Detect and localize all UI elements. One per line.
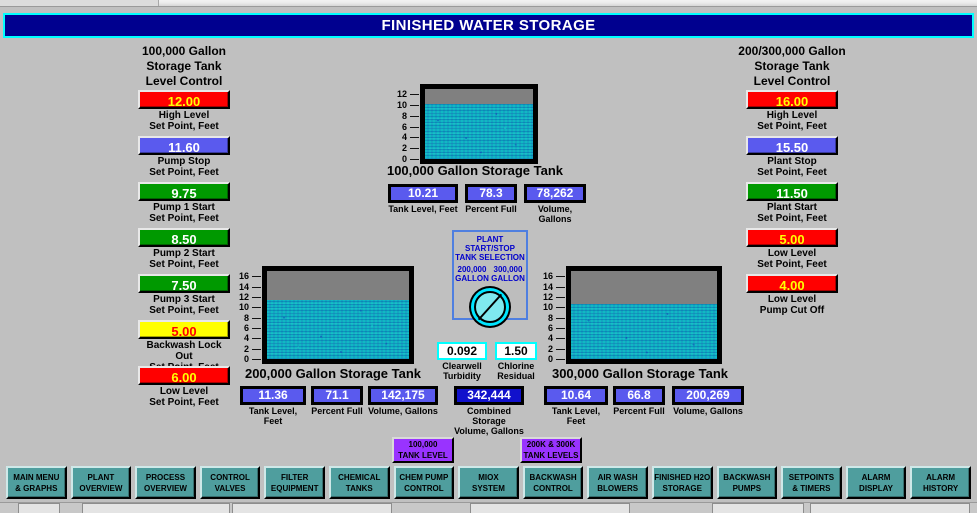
tank-title-200k: 200,000 Gallon Storage Tank (228, 366, 438, 381)
readout-caption: Tank Level, Feet (240, 406, 306, 426)
nav-button-label-line1: PLANT (88, 472, 115, 483)
readout-percent-full-200k: 71.1 Percent Full (311, 386, 363, 416)
setpoint-value[interactable]: 8.50 (138, 228, 230, 247)
readout-value: 71.1 (311, 386, 363, 405)
readout-value: 78,262 (524, 184, 586, 203)
tank-graphic-300k (566, 266, 722, 364)
axis-tick: 12— (397, 89, 418, 99)
setpoint-plant-stop-200300k[interactable]: 15.50 Plant Stop Set Point, Feet (746, 136, 838, 178)
nav-button-label-line1: SETPOINTS (789, 472, 834, 483)
nav-button-label-line1: CHEMICAL (338, 472, 380, 483)
nav-button-chem-pump[interactable]: CHEM PUMPCONTROL (394, 466, 455, 499)
readout-volume-200k: 142,175 Volume, Gallons (368, 386, 438, 416)
setpoint-caption: Low Level Set Point, Feet (138, 386, 230, 408)
hmi-screen: FINISHED WATER STORAGE 100,000 Gallon St… (0, 0, 977, 513)
bottom-navigation-bar: MAIN MENU& GRAPHSPLANTOVERVIEWPROCESSOVE… (6, 466, 971, 499)
readout-value: 342,444 (454, 386, 524, 405)
setpoint-value[interactable]: 7.50 (138, 274, 230, 293)
setpoint-caption: Low Level Set Point, Feet (746, 248, 838, 270)
readout-caption: Tank Level, Feet (388, 204, 458, 214)
setpoint-pump-1-start-100k[interactable]: 9.75 Pump 1 Start Set Point, Feet (138, 182, 230, 224)
nav-button-filter[interactable]: FILTEREQUIPMENT (264, 466, 325, 499)
nav-button-label-line1: PROCESS (146, 472, 185, 483)
setpoint-low-level-pump-cutoff-200300k[interactable]: 4.00 Low Level Pump Cut Off (746, 274, 838, 316)
setpoint-caption: Pump 1 Start Set Point, Feet (138, 202, 230, 224)
taskbar-strip (0, 502, 977, 513)
axis-tick: 6— (548, 323, 564, 333)
axis-tick: 12— (543, 292, 564, 302)
selector-option-200k[interactable]: 200,000 GALLON (455, 265, 489, 283)
axis-tick: 0— (548, 354, 564, 364)
nav-button-label-line1: CONTROL (210, 472, 250, 483)
readout-value: 10.64 (544, 386, 608, 405)
tank-axis-100k: 12—10—8—6—4—2—0— (392, 89, 418, 159)
tank-graphic-200k (262, 266, 414, 364)
readout-caption: Volume, Gallons (368, 406, 438, 416)
page-title: FINISHED WATER STORAGE (3, 13, 974, 38)
taskbar-item[interactable] (82, 503, 230, 513)
setpoint-value[interactable]: 6.00 (138, 366, 230, 385)
nav-button-label-line1: ALARM (926, 472, 955, 483)
setpoint-caption: High Level Set Point, Feet (746, 110, 838, 132)
axis-tick: 16— (543, 271, 564, 281)
readout-value: 142,175 (368, 386, 438, 405)
axis-tick: 6— (402, 122, 418, 132)
nav-button-control[interactable]: CONTROLVALVES (200, 466, 261, 499)
setpoint-low-level-200300k[interactable]: 5.00 Low Level Set Point, Feet (746, 228, 838, 270)
setpoint-value[interactable]: 4.00 (746, 274, 838, 293)
right-heading-line1: 200/300,000 Gallon (692, 44, 892, 59)
readout-chlorine-residual: 1.50 Chlorine Residual (495, 342, 537, 381)
nav-button-label-line1: ALARM (862, 472, 891, 483)
setpoint-pump-3-start-100k[interactable]: 7.50 Pump 3 Start Set Point, Feet (138, 274, 230, 316)
nav-button-label-line1: BACKWASH (529, 472, 576, 483)
nav-button-label-line1: FINISHED H2O (654, 472, 710, 483)
readout-value: 11.36 (240, 386, 306, 405)
setpoint-high-level-200300k[interactable]: 16.00 High Level Set Point, Feet (746, 90, 838, 132)
nav-button-label-line2: PUMPS (733, 483, 761, 494)
readout-percent-full-100k: 78.3 Percent Full (465, 184, 517, 214)
nav-button-label-line2: CONTROL (533, 483, 573, 494)
readout-caption: Tank Level, Feet (544, 406, 608, 426)
tank-title-300k: 300,000 Gallon Storage Tank (534, 366, 746, 381)
water-level-fill-300k (571, 304, 717, 359)
water-level-fill-100k (425, 104, 533, 159)
toolbar-fragment (92, 0, 159, 6)
window-toolbar-strip (0, 0, 977, 7)
nav-button-label-line1: FILTER (281, 472, 308, 483)
setpoint-value[interactable]: 5.00 (746, 228, 838, 247)
nav-button-label-line2: EQUIPMENT (271, 483, 319, 494)
trend-button-200k-300k-tank-levels[interactable]: 200K & 300K TANK LEVELS (520, 437, 582, 463)
water-level-fill-200k (267, 300, 409, 359)
nav-button-label-line2: OVERVIEW (144, 483, 187, 494)
nav-button-main-menu[interactable]: MAIN MENU& GRAPHS (6, 466, 67, 499)
toolbar-fragment (0, 0, 59, 6)
trend-button-100k-tank-level[interactable]: 100,000 TANK LEVEL (392, 437, 454, 463)
readout-caption: Volume, Gallons (524, 204, 586, 224)
readout-caption: Clearwell Turbidity (437, 361, 487, 381)
axis-tick: 4— (244, 333, 260, 343)
tank-title-100k: 100,000 Gallon Storage Tank (370, 163, 580, 178)
nav-button-process[interactable]: PROCESSOVERVIEW (135, 466, 196, 499)
right-heading-line2: Storage Tank (692, 59, 892, 74)
readout-tank-level-100k: 10.21 Tank Level, Feet (388, 184, 458, 214)
readout-combined-storage-volume: 342,444 Combined Storage Volume, Gallons (454, 386, 524, 436)
selector-title-line1: PLANT START/STOP (454, 235, 526, 253)
axis-tick: 8— (244, 313, 260, 323)
readout-value: 0.092 (437, 342, 487, 360)
nav-button-chemical[interactable]: CHEMICALTANKS (329, 466, 390, 499)
rotary-selector-switch-icon[interactable] (469, 286, 511, 328)
tank-axis-200k: 16—14—12—10—8—6—4—2—0— (234, 271, 260, 359)
setpoint-value[interactable]: 16.00 (746, 90, 838, 109)
nav-button-setpoints[interactable]: SETPOINTS& TIMERS (781, 466, 842, 499)
readout-volume-300k: 200,269 Volume, Gallons (672, 386, 744, 416)
readout-caption: Chlorine Residual (495, 361, 537, 381)
nav-button-backwash[interactable]: BACKWASHCONTROL (523, 466, 584, 499)
readout-volume-100k: 78,262 Volume, Gallons (524, 184, 586, 224)
nav-button-label-line2: OVERVIEW (79, 483, 122, 494)
nav-button-label-line1: MIOX (478, 472, 498, 483)
axis-tick: 10— (239, 302, 260, 312)
setpoint-caption: Plant Start Set Point, Feet (746, 202, 838, 224)
setpoint-value[interactable]: 11.50 (746, 182, 838, 201)
plant-start-stop-tank-selection-panel[interactable]: PLANT START/STOP TANK SELECTION 200,000 … (452, 230, 528, 320)
left-heading-line2: Storage Tank (84, 59, 284, 74)
readout-tank-level-300k: 10.64 Tank Level, Feet (544, 386, 608, 426)
setpoint-caption: Pump 3 Start Set Point, Feet (138, 294, 230, 316)
tank-graphic-100k (420, 84, 538, 164)
nav-button-label-line2: VALVES (215, 483, 246, 494)
setpoint-value[interactable]: 11.60 (138, 136, 230, 155)
nav-button-air-wash[interactable]: AIR WASHBLOWERS (587, 466, 648, 499)
toolbar-fragment (58, 0, 93, 6)
nav-button-label-line2: HISTORY (923, 483, 958, 494)
taskbar-item[interactable] (712, 503, 804, 513)
setpoint-caption: Pump Stop Set Point, Feet (138, 156, 230, 178)
axis-tick: 4— (402, 132, 418, 142)
axis-tick: 4— (548, 333, 564, 343)
nav-button-label-line2: DISPLAY (859, 483, 893, 494)
taskbar-item[interactable] (232, 503, 392, 513)
setpoint-caption: Pump 2 Start Set Point, Feet (138, 248, 230, 270)
nav-button-label-line1: BACKWASH (723, 472, 770, 483)
nav-button-alarm[interactable]: ALARMDISPLAY (846, 466, 907, 499)
axis-tick: 8— (548, 313, 564, 323)
axis-tick: 16— (239, 271, 260, 281)
axis-tick: 8— (402, 111, 418, 121)
axis-tick: 14— (239, 282, 260, 292)
readout-value: 200,269 (672, 386, 744, 405)
right-column-heading: 200/300,000 Gallon Storage Tank Level Co… (692, 44, 892, 89)
selector-title-line2: TANK SELECTION (454, 253, 526, 262)
readout-caption: Combined Storage Volume, Gallons (454, 406, 524, 436)
nav-button-miox[interactable]: MIOXSYSTEM (458, 466, 519, 499)
setpoint-value[interactable]: 12.00 (138, 90, 230, 109)
setpoint-value[interactable]: 15.50 (746, 136, 838, 155)
axis-tick: 2— (402, 143, 418, 153)
axis-tick: 10— (543, 302, 564, 312)
readout-value: 10.21 (388, 184, 458, 203)
setpoint-pump-2-start-100k[interactable]: 8.50 Pump 2 Start Set Point, Feet (138, 228, 230, 270)
setpoint-caption: Low Level Pump Cut Off (746, 294, 838, 316)
readout-percent-full-300k: 66.8 Percent Full (613, 386, 665, 416)
nav-button-label-line2: & TIMERS (792, 483, 830, 494)
readout-value: 66.8 (613, 386, 665, 405)
setpoint-plant-start-200300k[interactable]: 11.50 Plant Start Set Point, Feet (746, 182, 838, 224)
nav-button-label-line1: MAIN MENU (13, 472, 59, 483)
setpoint-value[interactable]: 5.00 (138, 320, 230, 339)
setpoint-caption: Plant Stop Set Point, Feet (746, 156, 838, 178)
taskbar-item[interactable] (810, 503, 970, 513)
readout-caption: Percent Full (613, 406, 665, 416)
selector-option-300k[interactable]: 300,000 GALLON (491, 265, 525, 283)
axis-tick: 14— (543, 282, 564, 292)
axis-tick: 2— (548, 344, 564, 354)
right-heading-line3: Level Control (692, 74, 892, 89)
taskbar-item[interactable] (470, 503, 630, 513)
setpoint-low-level-100k[interactable]: 6.00 Low Level Set Point, Feet (138, 366, 230, 408)
nav-button-backwash[interactable]: BACKWASHPUMPS (717, 466, 778, 499)
readout-caption: Percent Full (465, 204, 517, 214)
nav-button-label-line2: CONTROL (404, 483, 444, 494)
left-column-heading: 100,000 Gallon Storage Tank Level Contro… (84, 44, 284, 89)
readout-tank-level-200k: 11.36 Tank Level, Feet (240, 386, 306, 426)
readout-value: 1.50 (495, 342, 537, 360)
axis-tick: 12— (239, 292, 260, 302)
setpoint-pump-stop-100k[interactable]: 11.60 Pump Stop Set Point, Feet (138, 136, 230, 178)
setpoint-caption: High Level Set Point, Feet (138, 110, 230, 132)
nav-button-label-line2: TANKS (346, 483, 373, 494)
readout-clearwell-turbidity: 0.092 Clearwell Turbidity (437, 342, 487, 381)
nav-button-alarm[interactable]: ALARMHISTORY (910, 466, 971, 499)
nav-button-label-line2: SYSTEM (472, 483, 505, 494)
readout-value: 78.3 (465, 184, 517, 203)
tank-axis-300k: 16—14—12—10—8—6—4—2—0— (538, 271, 564, 359)
setpoint-high-level-100k[interactable]: 12.00 High Level Set Point, Feet (138, 90, 230, 132)
left-heading-line1: 100,000 Gallon (84, 44, 284, 59)
nav-button-label-line1: AIR WASH (598, 472, 638, 483)
axis-tick: 6— (244, 323, 260, 333)
nav-button-label-line1: CHEM PUMP (399, 472, 448, 483)
axis-tick: 10— (397, 100, 418, 110)
taskbar-item[interactable] (18, 503, 60, 513)
axis-tick: 0— (244, 354, 260, 364)
nav-button-label-line2: & GRAPHS (15, 483, 57, 494)
nav-button-label-line2: BLOWERS (597, 483, 638, 494)
nav-button-plant[interactable]: PLANTOVERVIEW (71, 466, 132, 499)
axis-tick: 2— (244, 344, 260, 354)
readout-caption: Percent Full (311, 406, 363, 416)
left-heading-line3: Level Control (84, 74, 284, 89)
nav-button-label-line2: STORAGE (663, 483, 702, 494)
readout-caption: Volume, Gallons (672, 406, 744, 416)
setpoint-value[interactable]: 9.75 (138, 182, 230, 201)
nav-button-finished-h2o[interactable]: FINISHED H2OSTORAGE (652, 466, 713, 499)
